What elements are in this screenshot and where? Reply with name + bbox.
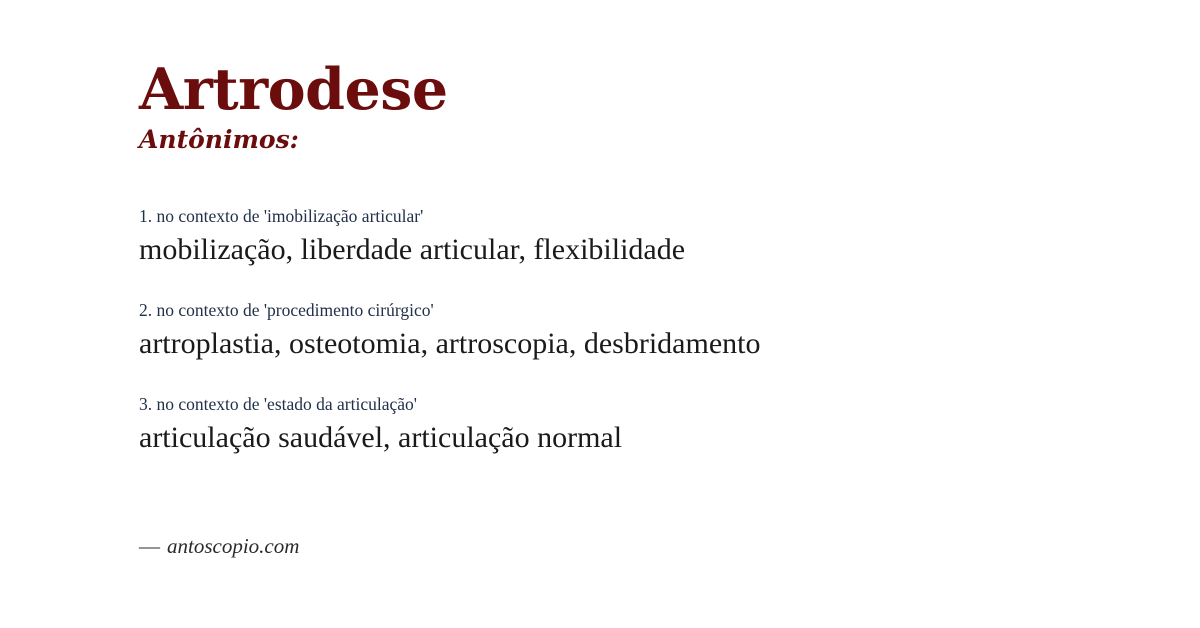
sense-number: 2. (139, 300, 152, 320)
antonyms-card: Artrodese Antônimos: 1. no contexto de '… (0, 0, 1200, 628)
em-dash-glyph: — (139, 534, 160, 558)
list-item: 1. no contexto de 'imobilização articula… (139, 205, 1160, 269)
sense-context-text: no contexto de 'estado da articulação' (157, 394, 417, 414)
sense-context: 2. no contexto de 'procedimento cirúrgic… (139, 299, 1160, 322)
page-title: Artrodese (139, 60, 1140, 119)
sense-context: 1. no contexto de 'imobilização articula… (139, 205, 1160, 228)
sense-context: 3. no contexto de 'estado da articulação… (139, 393, 1160, 416)
sense-antonyms: mobilização, liberdade articular, flexib… (139, 230, 1160, 269)
sense-number: 1. (139, 206, 152, 226)
card-header: Artrodese Antônimos: (139, 60, 1140, 155)
list-item: 2. no contexto de 'procedimento cirúrgic… (139, 299, 1160, 363)
sense-context-text: no contexto de 'imobilização articular' (157, 206, 424, 226)
sense-context-text: no contexto de 'procedimento cirúrgico' (157, 300, 434, 320)
list-item: 3. no contexto de 'estado da articulação… (139, 393, 1160, 457)
source-attribution: —antoscopio.com (139, 533, 299, 560)
source-domain: antoscopio.com (167, 534, 299, 558)
sense-number: 3. (139, 394, 152, 414)
sense-antonyms: articulação saudável, articulação normal (139, 418, 1160, 457)
sense-list: 1. no contexto de 'imobilização articula… (139, 205, 1160, 457)
sense-antonyms: artroplastia, osteotomia, artroscopia, d… (139, 324, 1160, 363)
section-label-antonyms: Antônimos: (139, 125, 1140, 155)
